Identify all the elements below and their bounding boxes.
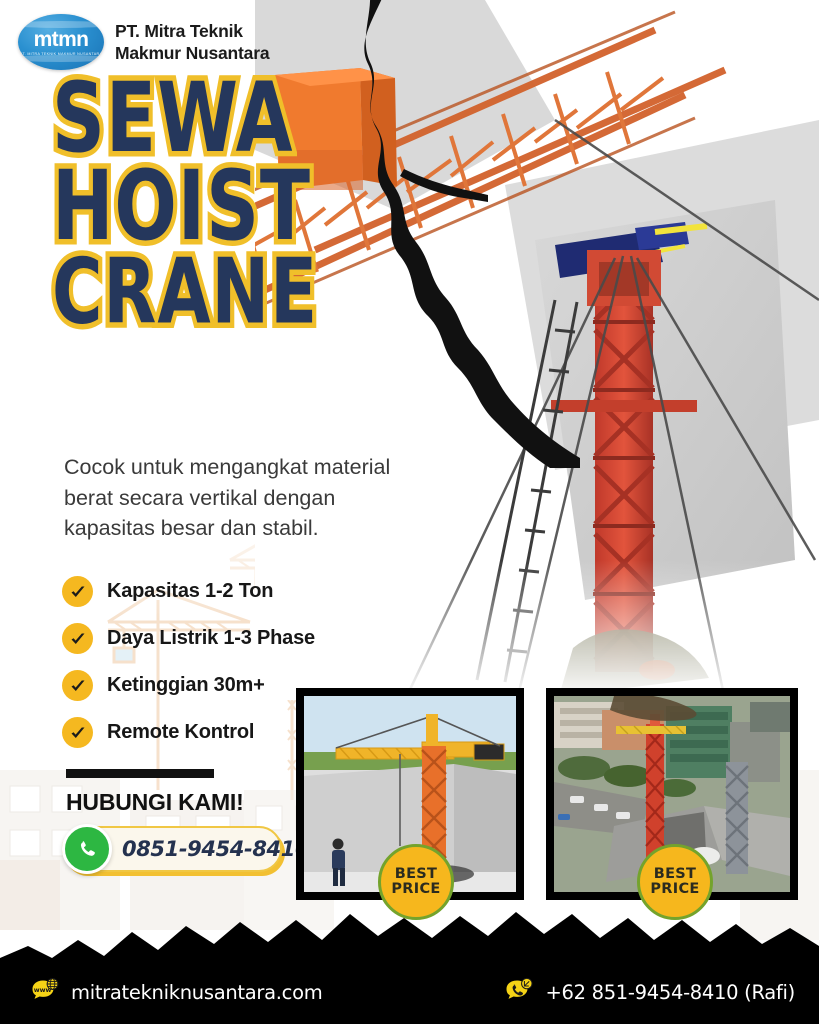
headline-line-3: CRANE — [52, 254, 318, 332]
logo-tagline: PT. MITRA TEKNIK MAKMUR NUSANTARA — [20, 52, 103, 56]
contact-divider-rule — [66, 769, 214, 778]
footer-bar: www mitratekniknusantara.com +62 851-945… — [0, 960, 819, 1024]
best-price-badge: BEST PRICE — [637, 844, 713, 920]
contact-phone-number: 0851-9454-8410 — [122, 826, 309, 872]
company-name: PT. Mitra Teknik Makmur Nusantara — [115, 20, 269, 65]
whatsapp-icon[interactable] — [62, 824, 112, 874]
headline-line-1: SEWA — [52, 78, 318, 161]
badge-line-2: PRICE — [650, 882, 699, 897]
headline-block: SEWA HOIST CRANE — [52, 78, 338, 318]
logo-wordmark: mtmn — [34, 29, 89, 50]
company-logo-oval: mtmn PT. MITRA TEKNIK MAKMUR NUSANTARA — [18, 14, 104, 70]
feature-label: Ketinggian 30m+ — [107, 674, 265, 697]
feature-label: Kapasitas 1-2 Ton — [107, 580, 273, 603]
description-text: Cocok untuk mengangkat material berat se… — [64, 452, 424, 544]
badge-line-1: BEST — [654, 867, 697, 882]
check-icon — [62, 623, 93, 654]
feature-item: Daya Listrik 1-3 Phase — [62, 615, 315, 662]
feature-list: Kapasitas 1-2 Ton Daya Listrik 1-3 Phase… — [62, 568, 315, 756]
contact-title: HUBUNGI KAMI! — [66, 789, 244, 816]
best-price-badge: BEST PRICE — [378, 844, 454, 920]
badge-line-2: PRICE — [391, 882, 440, 897]
check-icon — [62, 670, 93, 701]
footer-website-item[interactable]: www mitratekniknusantara.com — [30, 977, 322, 1007]
badge-line-1: BEST — [395, 867, 438, 882]
headline-line-2: HOIST — [52, 166, 318, 249]
phone-handset-glyph — [73, 835, 101, 863]
phone-bubble-icon — [504, 977, 534, 1007]
www-bubble-icon: www — [30, 977, 60, 1007]
company-name-line2: Makmur Nusantara — [115, 42, 269, 64]
poster-canvas: mtmn PT. MITRA TEKNIK MAKMUR NUSANTARA P… — [0, 0, 819, 1024]
footer-phone-text: +62 851-9454-8410 (Rafi) — [545, 981, 794, 1004]
brand-header: mtmn PT. MITRA TEKNIK MAKMUR NUSANTARA P… — [18, 14, 269, 70]
crane-3d-render-image — [255, 0, 819, 700]
footer-website-text: mitratekniknusantara.com — [71, 981, 322, 1004]
company-name-line1: PT. Mitra Teknik — [115, 20, 269, 42]
check-icon — [62, 717, 93, 748]
feature-item: Kapasitas 1-2 Ton — [62, 568, 315, 615]
footer-phone-item[interactable]: +62 851-9454-8410 (Rafi) — [504, 977, 794, 1007]
feature-label: Remote Kontrol — [107, 721, 254, 744]
check-icon — [62, 576, 93, 607]
feature-item: Ketinggian 30m+ — [62, 662, 315, 709]
feature-label: Daya Listrik 1-3 Phase — [107, 627, 315, 650]
feature-item: Remote Kontrol — [62, 709, 315, 756]
